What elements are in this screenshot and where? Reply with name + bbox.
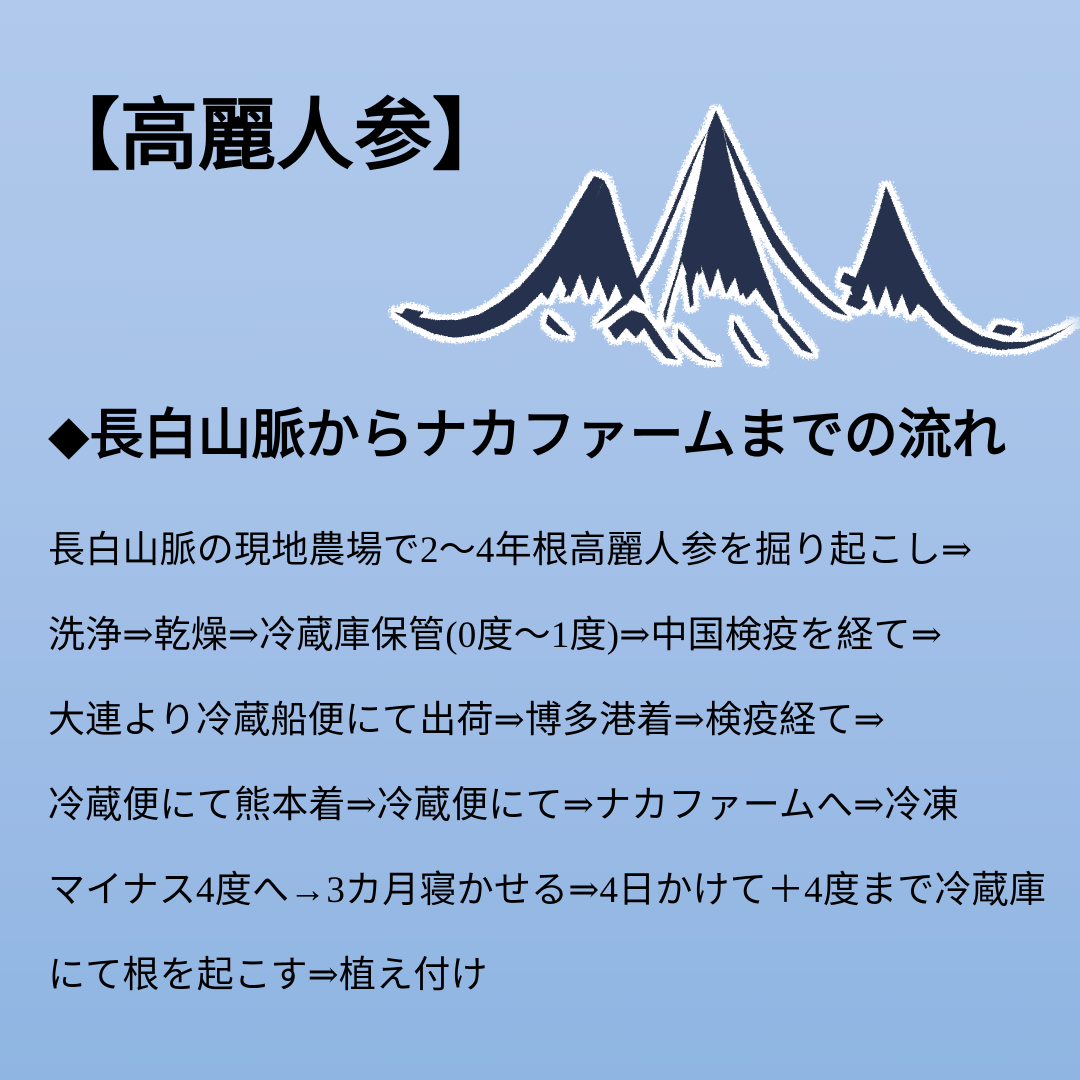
poster-canvas: 【高麗人参】 bbox=[0, 0, 1080, 1080]
flow-step-line: 長白山脈の現地農場で2〜4年根高麗人参を掘り起こし⇒ bbox=[48, 508, 1038, 593]
flow-step-line: 洗浄⇒乾燥⇒冷蔵庫保管(0度〜1度)⇒中国検疫を経て⇒ bbox=[48, 593, 1038, 678]
section-heading-flow: ◆長白山脈からナカファームまでの流れ bbox=[48, 404, 1006, 466]
flow-step-line: にて根を起こす⇒植え付け bbox=[48, 933, 1038, 1018]
flow-step-line: 大連より冷蔵船便にて出荷⇒博多港着⇒検疫経て⇒ bbox=[48, 678, 1038, 763]
flow-step-line: マイナス4度へ→3カ月寝かせる⇒4日かけて＋4度まで冷蔵庫 bbox=[48, 848, 1038, 933]
flow-step-line: 冷蔵便にて熊本着⇒冷蔵便にて⇒ナカファームへ⇒冷凍 bbox=[48, 763, 1038, 848]
page-title: 【高麗人参】 bbox=[42, 92, 510, 180]
flow-steps-list: 長白山脈の現地農場で2〜4年根高麗人参を掘り起こし⇒ 洗浄⇒乾燥⇒冷蔵庫保管(0… bbox=[48, 508, 1038, 1018]
